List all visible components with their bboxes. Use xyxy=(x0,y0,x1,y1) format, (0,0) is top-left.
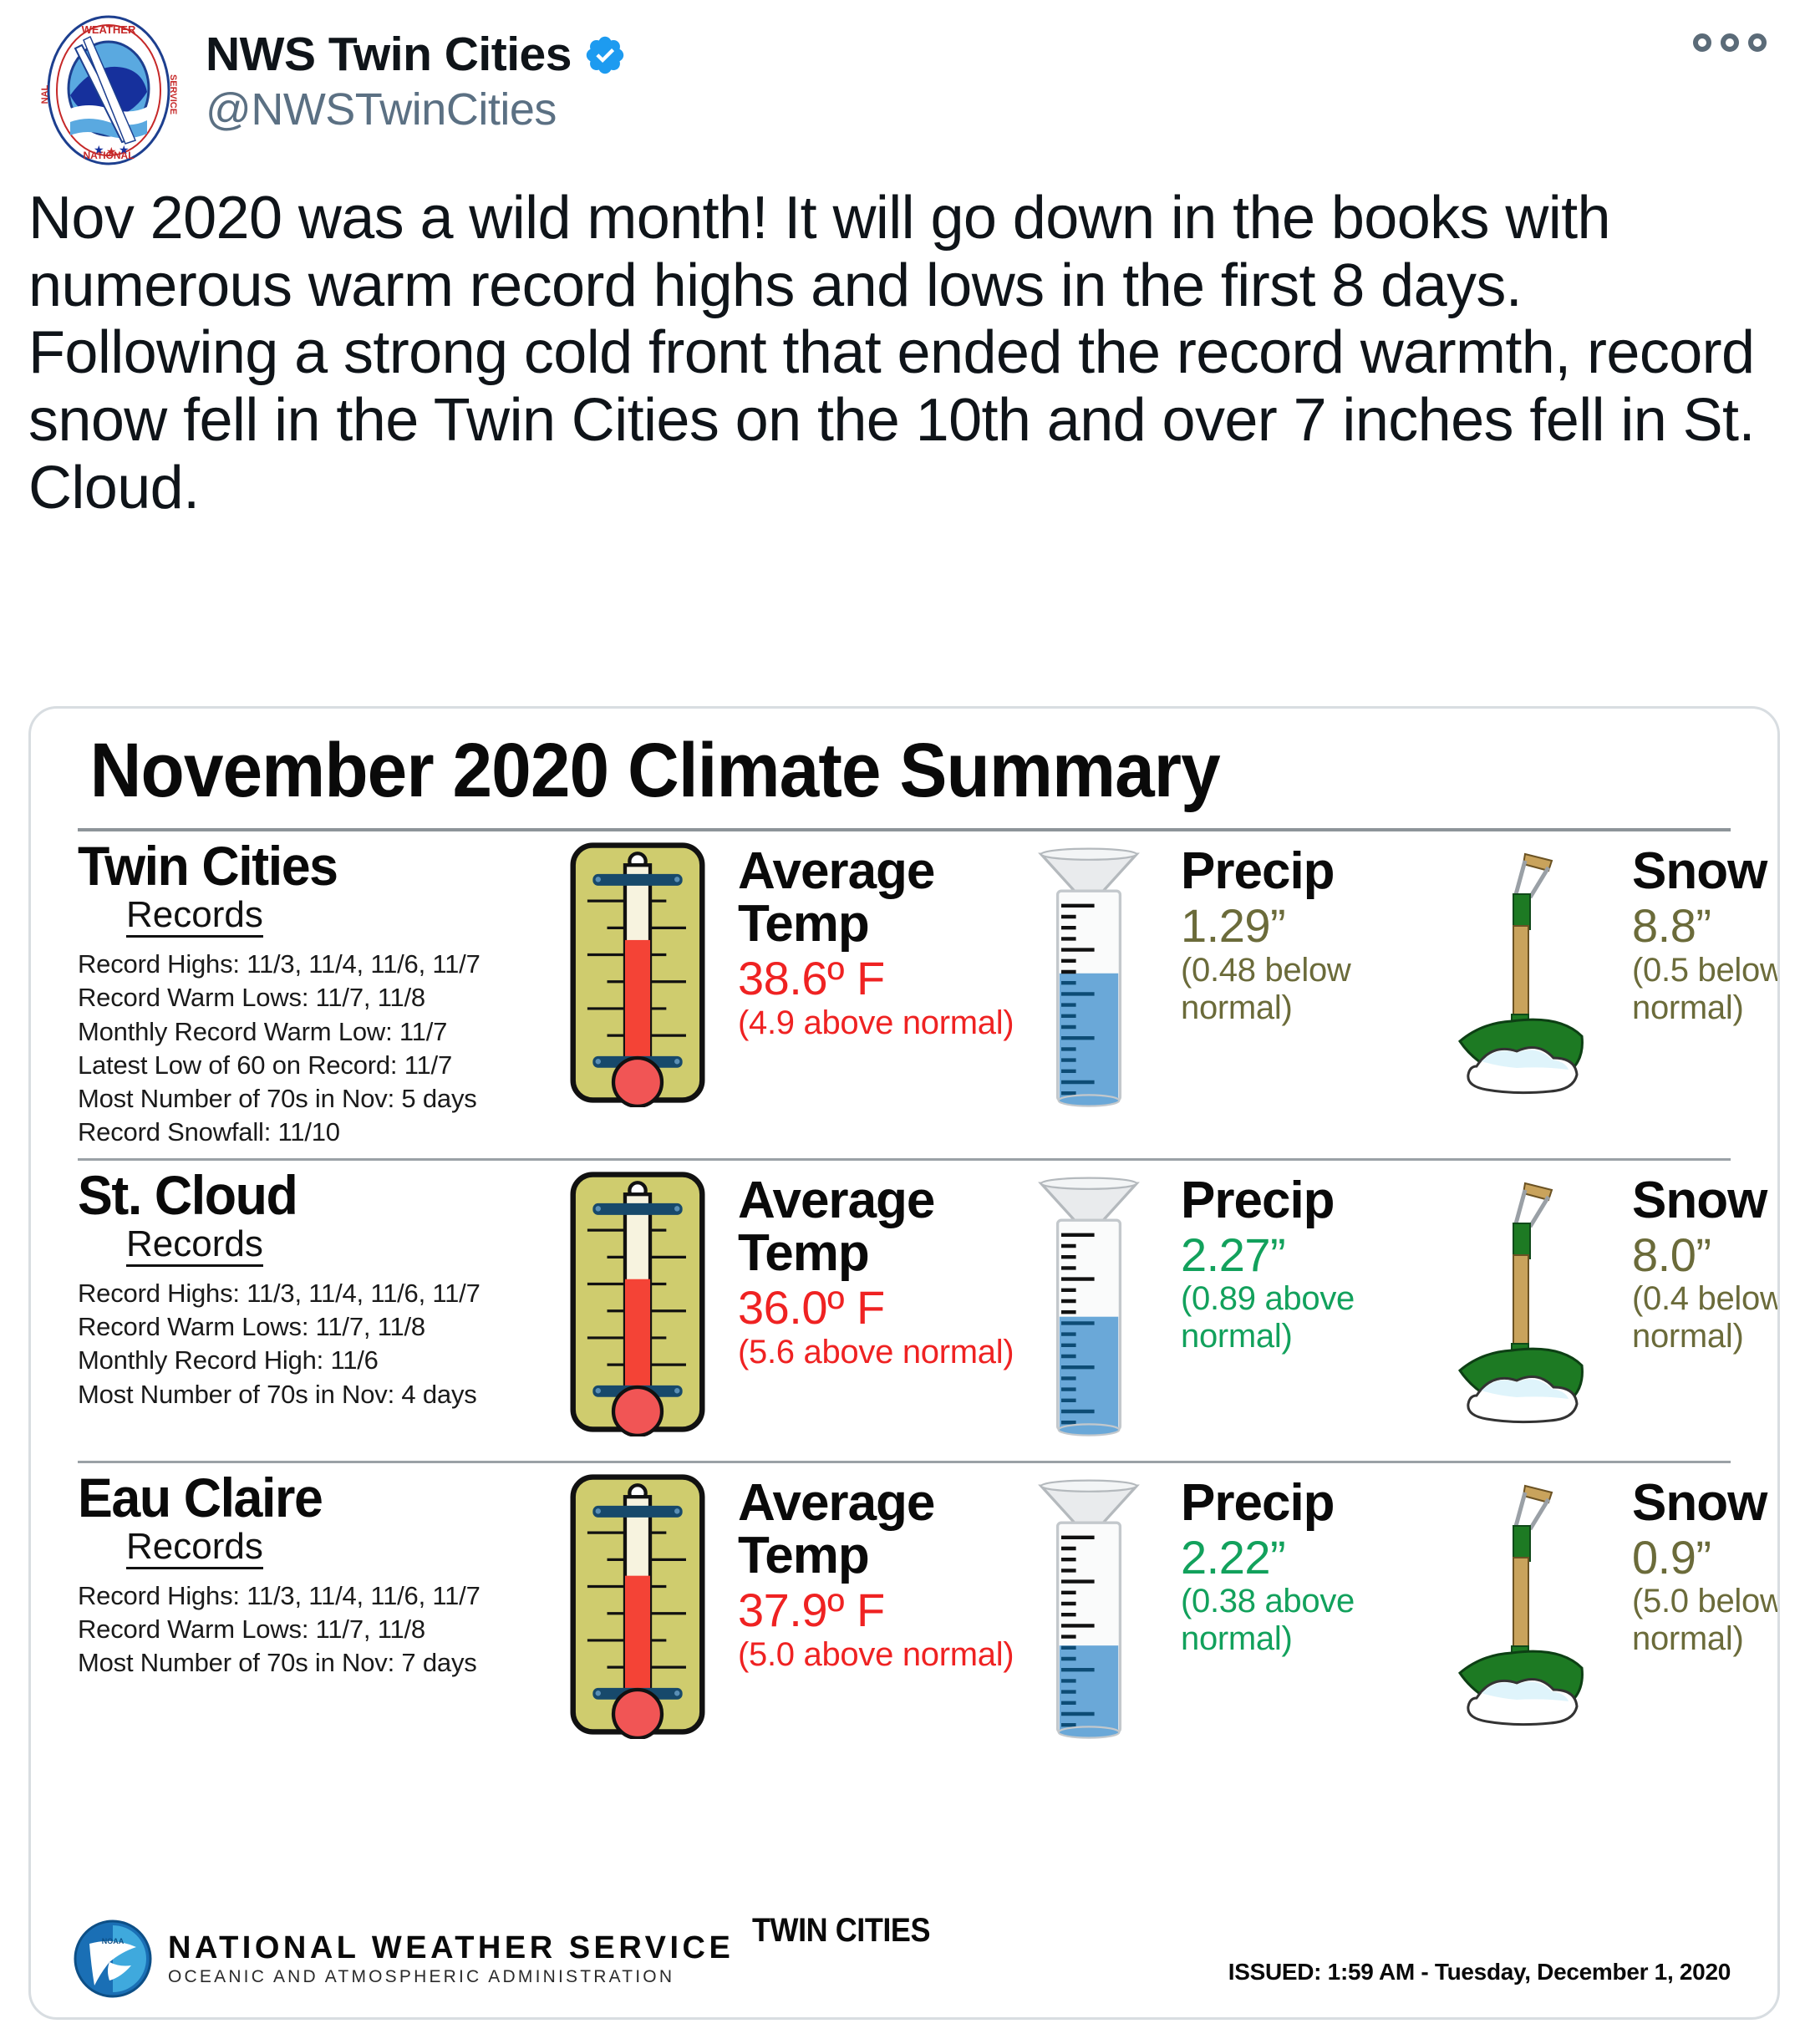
precip-label: Precip xyxy=(1181,1477,1426,1529)
records-list: Record Highs: 11/3, 11/4, 11/6, 11/7Reco… xyxy=(78,1277,566,1411)
precip-metric: Precip 2.22” (0.38 above normal) xyxy=(1034,1470,1426,1755)
temp-text-block: Average Temp 38.6º F (4.9 above normal) xyxy=(738,838,1034,1042)
rain-gauge-graphic xyxy=(1034,838,1167,1123)
precip-delta: (0.38 above normal) xyxy=(1181,1583,1426,1658)
snow-delta: (0.5 below normal) xyxy=(1632,952,1780,1027)
records-heading: Records xyxy=(126,1226,263,1267)
rain-gauge-icon xyxy=(1034,843,1144,1119)
snow-value: 8.8” xyxy=(1632,901,1780,951)
precip-metric: Precip 2.27” (0.89 above normal) xyxy=(1034,1167,1426,1452)
temp-value: 38.6º F xyxy=(738,953,1034,1004)
city-records-block: Twin Cities Records Record Highs: 11/3, … xyxy=(31,838,566,1150)
snow-value: 0.9” xyxy=(1632,1533,1780,1583)
temp-delta: (5.6 above normal) xyxy=(738,1334,1034,1371)
thermometer-icon xyxy=(566,1167,709,1436)
record-line: Most Number of 70s in Nov: 7 days xyxy=(78,1646,566,1680)
svg-text:★: ★ xyxy=(119,143,130,156)
tweet-text: Nov 2020 was a wild month! It will go do… xyxy=(28,185,1772,521)
record-line: Record Warm Lows: 11/7, 11/8 xyxy=(78,1310,566,1344)
record-line: Most Number of 70s in Nov: 5 days xyxy=(78,1082,566,1116)
snow-value: 8.0” xyxy=(1632,1230,1780,1280)
snow-label: Snow xyxy=(1632,1174,1780,1227)
issued-timestamp: ISSUED: 1:59 AM - Tuesday, December 1, 2… xyxy=(1228,1959,1731,1989)
more-dot-1 xyxy=(1693,33,1711,52)
precip-label: Precip xyxy=(1181,1174,1426,1227)
record-line: Record Highs: 11/3, 11/4, 11/6, 11/7 xyxy=(78,948,566,981)
svg-text:SERVICE: SERVICE xyxy=(168,74,178,114)
snow-text-block: Snow 0.9” (5.0 below normal) xyxy=(1632,1470,1780,1658)
record-line: Record Warm Lows: 11/7, 11/8 xyxy=(78,981,566,1014)
temp-delta: (5.0 above normal) xyxy=(738,1636,1034,1674)
precip-delta: (0.48 below normal) xyxy=(1181,952,1426,1027)
record-line: Record Warm Lows: 11/7, 11/8 xyxy=(78,1613,566,1646)
climate-summary-card[interactable]: November 2020 Climate Summary Twin Citie… xyxy=(28,706,1780,2020)
city-row-eau-claire[interactable]: Eau Claire Records Record Highs: 11/3, 1… xyxy=(31,1463,1777,1755)
average-temp-metric: Average Temp 37.9º F (5.0 above normal) xyxy=(566,1470,1034,1743)
svg-text:WEATHER: WEATHER xyxy=(82,23,136,36)
snow-shovel-icon xyxy=(1426,1167,1619,1435)
city-rows: Twin Cities Records Record Highs: 11/3, … xyxy=(31,831,1777,1755)
precip-text-block: Precip 2.27” (0.89 above normal) xyxy=(1181,1167,1426,1355)
snow-text-block: Snow 8.0” (0.4 below normal) xyxy=(1632,1167,1780,1355)
city-row-st-cloud[interactable]: St. Cloud Records Record Highs: 11/3, 11… xyxy=(31,1161,1777,1452)
record-line: Record Highs: 11/3, 11/4, 11/6, 11/7 xyxy=(78,1277,566,1310)
temp-label: Average Temp xyxy=(738,845,1034,950)
temp-value: 37.9º F xyxy=(738,1585,1034,1635)
records-heading: Records xyxy=(126,1528,263,1569)
records-list: Record Highs: 11/3, 11/4, 11/6, 11/7Reco… xyxy=(78,1579,566,1680)
precip-metric: Precip 1.29” (0.48 below normal) xyxy=(1034,838,1426,1123)
more-dot-2 xyxy=(1721,33,1739,52)
nws-agency-text: NATIONAL WEATHER SERVICE OCEANIC AND ATM… xyxy=(168,1932,734,1986)
city-records-block: St. Cloud Records Record Highs: 11/3, 11… xyxy=(31,1167,566,1411)
snow-shovel-graphic xyxy=(1426,1470,1619,1741)
svg-text:★: ★ xyxy=(106,145,117,158)
card-title: November 2020 Climate Summary xyxy=(31,709,1655,820)
tweet-body: Nov 2020 was a wild month! It will go do… xyxy=(0,180,1805,521)
rain-gauge-graphic xyxy=(1034,1470,1167,1755)
snow-label: Snow xyxy=(1632,1477,1780,1529)
rain-gauge-icon xyxy=(1034,1475,1144,1751)
precip-value: 2.22” xyxy=(1181,1533,1426,1583)
thermometer-graphic xyxy=(566,838,725,1111)
thermometer-graphic xyxy=(566,1167,725,1441)
precip-text-block: Precip 1.29” (0.48 below normal) xyxy=(1181,838,1426,1026)
snow-shovel-graphic xyxy=(1426,1167,1619,1439)
snow-metric: Snow 0.9” (5.0 below normal) xyxy=(1426,1470,1780,1741)
city-name: St. Cloud xyxy=(78,1167,541,1223)
snow-metric: Snow 8.8” (0.5 below normal) xyxy=(1426,838,1780,1110)
precip-value: 1.29” xyxy=(1181,901,1426,951)
record-line: Monthly Record Warm Low: 11/7 xyxy=(78,1015,566,1049)
avatar[interactable]: WEATHER NATIONAL NAL SERVICE ★ ★ ★ xyxy=(33,15,184,165)
record-line: Latest Low of 60 on Record: 11/7 xyxy=(78,1049,566,1082)
records-heading: Records xyxy=(126,897,263,938)
snow-shovel-graphic xyxy=(1426,838,1619,1110)
account-block: NWS Twin Cities @NWSTwinCities xyxy=(206,15,627,135)
nws-seal-logo: WEATHER NATIONAL NAL SERVICE ★ ★ ★ xyxy=(33,15,184,165)
city-records-block: Eau Claire Records Record Highs: 11/3, 1… xyxy=(31,1470,566,1680)
agency-line-1: NATIONAL WEATHER SERVICE xyxy=(168,1930,734,1965)
verified-badge-icon xyxy=(583,33,627,77)
precip-text-block: Precip 2.22” (0.38 above normal) xyxy=(1181,1470,1426,1658)
agency-line-2: OCEANIC AND ATMOSPHERIC ADMINISTRATION xyxy=(168,1968,734,1986)
card-footer: NOAA NATIONAL WEATHER SERVICE OCEANIC AN… xyxy=(31,1900,1777,2017)
svg-text:★: ★ xyxy=(94,143,104,156)
noaa-seal-icon: NOAA xyxy=(73,1919,153,1999)
svg-text:NAL: NAL xyxy=(40,84,50,104)
snow-delta: (0.4 below normal) xyxy=(1632,1280,1780,1355)
temp-label: Average Temp xyxy=(738,1174,1034,1279)
snow-delta: (5.0 below normal) xyxy=(1632,1583,1780,1658)
record-line: Record Highs: 11/3, 11/4, 11/6, 11/7 xyxy=(78,1579,566,1613)
average-temp-metric: Average Temp 38.6º F (4.9 above normal) xyxy=(566,838,1034,1111)
record-line: Monthly Record High: 11/6 xyxy=(78,1344,566,1377)
svg-text:NOAA: NOAA xyxy=(102,1937,125,1945)
precip-value: 2.27” xyxy=(1181,1230,1426,1280)
temp-value: 36.0º F xyxy=(738,1283,1034,1333)
record-line: Most Number of 70s in Nov: 4 days xyxy=(78,1378,566,1411)
records-list: Record Highs: 11/3, 11/4, 11/6, 11/7Reco… xyxy=(78,948,566,1150)
more-dot-3 xyxy=(1748,33,1767,52)
tweet-header: WEATHER NATIONAL NAL SERVICE ★ ★ ★ NWS T… xyxy=(0,0,1805,180)
temp-delta: (4.9 above normal) xyxy=(738,1004,1034,1042)
precip-label: Precip xyxy=(1181,845,1426,897)
rain-gauge-graphic xyxy=(1034,1167,1167,1452)
temp-label: Average Temp xyxy=(738,1477,1034,1582)
account-name[interactable]: NWS Twin Cities xyxy=(206,30,572,80)
snow-label: Snow xyxy=(1632,845,1780,897)
snow-shovel-icon xyxy=(1426,838,1619,1106)
city-name: Eau Claire xyxy=(78,1470,541,1525)
more-options-icon[interactable] xyxy=(1693,33,1767,52)
city-row-twin-cities[interactable]: Twin Cities Records Record Highs: 11/3, … xyxy=(31,831,1777,1150)
thermometer-icon xyxy=(566,838,709,1107)
snow-shovel-icon xyxy=(1426,1470,1619,1737)
account-name-row: NWS Twin Cities xyxy=(206,30,627,80)
snow-text-block: Snow 8.8” (0.5 below normal) xyxy=(1632,838,1780,1026)
record-line: Record Snowfall: 11/10 xyxy=(78,1116,566,1149)
rain-gauge-icon xyxy=(1034,1172,1144,1448)
account-handle[interactable]: @NWSTwinCities xyxy=(206,85,627,135)
thermometer-graphic xyxy=(566,1470,725,1743)
thermometer-icon xyxy=(566,1470,709,1739)
city-name: Twin Cities xyxy=(78,838,541,893)
precip-delta: (0.89 above normal) xyxy=(1181,1280,1426,1355)
average-temp-metric: Average Temp 36.0º F (5.6 above normal) xyxy=(566,1167,1034,1441)
snow-metric: Snow 8.0” (0.4 below normal) xyxy=(1426,1167,1780,1439)
temp-text-block: Average Temp 37.9º F (5.0 above normal) xyxy=(738,1470,1034,1674)
nws-office-name: TWIN CITIES xyxy=(752,1900,930,1950)
temp-text-block: Average Temp 36.0º F (5.6 above normal) xyxy=(738,1167,1034,1371)
